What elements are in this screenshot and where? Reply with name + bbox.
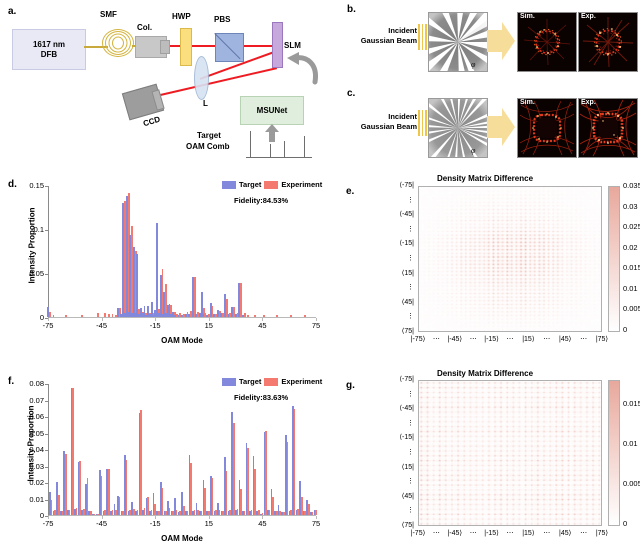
dfb-type: DFB: [41, 50, 57, 60]
bar: [254, 315, 256, 317]
matrix-row-label: ⋮: [374, 312, 414, 320]
x-tick-label: 45: [244, 321, 280, 330]
colorbar-tick-label: 0.035: [623, 181, 640, 190]
incident-line1: Incident: [345, 112, 417, 122]
bar: [65, 315, 67, 317]
phi-symbol-c: φ: [471, 146, 475, 155]
colorbar-tick-label: 0.03: [623, 202, 638, 211]
bar: [140, 410, 142, 515]
panel-b-hologram-row: b. Incident Gaussian Beam φ Sim.: [345, 2, 640, 86]
panel-d-y-title: Intensity Proportion: [28, 186, 37, 306]
bar: [156, 223, 158, 317]
bar: [190, 463, 192, 515]
feedback-arrow-icon: [285, 52, 321, 86]
x-tick-label: 75: [298, 519, 334, 528]
bar: [136, 254, 138, 317]
panel-f-spectrum-chart: f. 00.010.020.030.040.050.060.070.08 -75…: [0, 370, 330, 555]
comb-line: [304, 136, 305, 157]
legend-swatch-experiment: [264, 378, 278, 386]
exp-tag-c: Exp.: [581, 99, 596, 106]
exp-tag-b: Exp.: [581, 13, 596, 20]
matrix-row-label: ⟨-75|: [374, 375, 414, 383]
bar: [101, 476, 103, 515]
x-tick-label: -15: [137, 519, 173, 528]
half-wave-plate: [180, 28, 192, 66]
colorbar-tick-label: 0: [623, 519, 627, 528]
panel-g-matrix-area: [418, 380, 602, 526]
panel-d-legend: Target Experiment: [222, 180, 322, 189]
colorbar-tick-label: 0.015: [623, 263, 640, 272]
matrix-row-label: ⋮: [374, 448, 414, 456]
bar: [97, 313, 99, 317]
label-slm: SLM: [284, 41, 301, 50]
panel-d-spectrum-chart: d. 00.050.10.15 -75-45-15154575 Intensit…: [0, 176, 330, 352]
colorbar-tick-label: 0.005: [623, 304, 640, 313]
x-tick-label: 75: [298, 321, 334, 330]
incident-line2: Gaussian Beam: [345, 122, 417, 132]
bar: [247, 448, 249, 515]
panel-c-hologram-row: c. Incident Gaussian Beam φ Sim.: [345, 86, 640, 172]
bar: [276, 315, 278, 317]
bar: [265, 431, 267, 515]
matrix-row-label: ⟨-45|: [374, 404, 414, 412]
y-tick-mark: [45, 467, 48, 468]
matrix-row-label: ⟨75|: [374, 327, 414, 335]
legend-label-target: Target: [239, 377, 261, 386]
x-tick-mark: [209, 516, 210, 519]
x-tick-label: -45: [84, 519, 120, 528]
panel-f-plot-area: [48, 384, 316, 516]
matrix-col-label: |75⟩: [585, 335, 619, 343]
collimator-nose: [160, 40, 170, 54]
legend-label-target: Target: [239, 180, 261, 189]
y-tick-label: 0.02: [4, 478, 44, 487]
lens: [194, 56, 209, 100]
dfb-laser-source: 1617 nm DFB: [12, 29, 86, 70]
x-tick-mark: [262, 318, 263, 321]
matrix-col-label: |75⟩: [585, 529, 619, 537]
y-tick-mark: [45, 500, 48, 501]
panel-d-plot-area: [48, 186, 316, 318]
bar: [126, 460, 128, 515]
y-tick-mark: [45, 450, 48, 451]
label-col: Col.: [137, 23, 152, 32]
bar: [315, 510, 317, 515]
x-tick-label: 15: [191, 519, 227, 528]
comb-line: [284, 141, 285, 157]
sim-image-b: Sim.: [517, 12, 577, 72]
panel-f-fidelity: Fidelity:83.63%: [234, 393, 288, 402]
incident-beam-label-b: Incident Gaussian Beam: [345, 26, 417, 46]
bar: [287, 442, 289, 515]
x-tick-mark: [48, 516, 49, 519]
panel-d-x-title: OAM Mode: [48, 336, 316, 345]
x-tick-mark: [48, 318, 49, 321]
matrix-heatmap: [419, 381, 602, 526]
bar: [244, 313, 246, 317]
colorbar-tick-label: 0.01: [623, 284, 638, 293]
y-tick-mark: [45, 274, 48, 275]
y-tick-label: 0.05: [4, 269, 44, 278]
bar: [226, 471, 228, 515]
matrix-row-label: ⟨-75|: [374, 181, 414, 189]
matrix-row-label: ⟨-15|: [374, 239, 414, 247]
bar: [104, 313, 106, 317]
comb-line: [270, 144, 271, 157]
bar: [212, 478, 214, 515]
y-tick-mark: [45, 186, 48, 187]
panel-g-colorbar: [608, 380, 620, 526]
label-smf: SMF: [100, 10, 117, 19]
label-target-line1: Target: [197, 131, 221, 140]
matrix-row-label: ⋮: [374, 254, 414, 262]
incident-beam-label-c: Incident Gaussian Beam: [345, 112, 417, 132]
bar: [53, 315, 55, 317]
panel-b-letter: b.: [347, 4, 356, 15]
x-tick-mark: [102, 516, 103, 519]
sim-image-c: Sim.: [517, 98, 577, 158]
label-pbs: PBS: [214, 15, 230, 24]
x-tick-label: 45: [244, 519, 280, 528]
bar: [81, 315, 83, 317]
y-tick-label: 0.04: [4, 445, 44, 454]
spatial-light-modulator: [272, 22, 283, 68]
matrix-row-label: ⟨-15|: [374, 433, 414, 441]
matrix-row-label: ⋮: [374, 477, 414, 485]
panel-f-x-title: OAM Mode: [48, 534, 316, 543]
bar: [290, 315, 292, 317]
legend-label-experiment: Experiment: [281, 180, 322, 189]
panel-e-colorbar: [608, 186, 620, 332]
comb-line: [250, 131, 251, 157]
matrix-heatmap: [419, 187, 602, 332]
x-tick-mark: [316, 318, 317, 321]
fork-hologram-c: [428, 98, 488, 158]
matrix-row-label: ⋮: [374, 419, 414, 427]
matrix-row-label: ⋮: [374, 196, 414, 204]
panel-d-bars: [49, 186, 316, 317]
y-tick-label: 0.01: [4, 495, 44, 504]
matrix-row-label: ⟨45|: [374, 492, 414, 500]
matrix-row-label: ⟨15|: [374, 463, 414, 471]
panel-a-letter: a.: [8, 6, 16, 17]
legend-swatch-experiment: [264, 181, 278, 189]
matrix-row-label: ⟨15|: [374, 269, 414, 277]
msunet-network-box: MSUNet: [240, 96, 304, 125]
matrix-row-label: ⟨45|: [374, 298, 414, 306]
bar: [194, 277, 196, 317]
bar: [294, 409, 296, 515]
gaussian-beam-rays-c: [418, 110, 427, 136]
panel-a-experimental-setup: a. 1617 nm DFB MSUNet SMF Col. HWP PBS S…: [0, 0, 340, 172]
y-tick-mark: [45, 230, 48, 231]
y-tick-label: 0.05: [4, 429, 44, 438]
panel-e-letter: e.: [346, 186, 354, 197]
label-hwp: HWP: [172, 12, 191, 21]
bar: [65, 454, 67, 515]
polarizing-beam-splitter: [215, 33, 244, 62]
phi-symbol-b: φ: [471, 60, 475, 69]
colorbar-tick-label: 0.015: [623, 399, 640, 408]
bar: [108, 314, 110, 317]
label-target-line2: OAM Comb: [186, 142, 230, 151]
exp-image-b: Exp.: [578, 12, 638, 72]
y-tick-label: 0.08: [4, 379, 44, 388]
x-tick-mark: [262, 516, 263, 519]
x-tick-mark: [316, 516, 317, 519]
label-ccd: CCD: [142, 115, 161, 129]
panel-c-letter: c.: [347, 88, 355, 99]
panel-e-density-matrix: e. Density Matrix Difference ⟨-75|⋮⟨-45|…: [330, 176, 640, 352]
bar: [247, 315, 249, 317]
exp-image-c: Exp.: [578, 98, 638, 158]
x-tick-mark: [155, 318, 156, 321]
y-tick-label: 0.1: [4, 225, 44, 234]
smf-fiber-coil-icon: [101, 26, 135, 60]
x-tick-label: -45: [84, 321, 120, 330]
legend-swatch-target: [222, 378, 236, 386]
bar: [254, 469, 256, 515]
panel-f-bars: [49, 384, 316, 515]
bar: [240, 283, 242, 317]
panel-e-matrix-area: [418, 186, 602, 332]
y-tick-label: 0.03: [4, 462, 44, 471]
sim-tag-c: Sim.: [520, 99, 535, 106]
matrix-row-label: ⟨-45|: [374, 210, 414, 218]
panel-f-legend: Target Experiment: [222, 377, 322, 386]
y-tick-mark: [45, 417, 48, 418]
dfb-wavelength: 1617 nm: [33, 40, 65, 50]
label-lens: L: [203, 99, 208, 108]
sim-tag-b: Sim.: [520, 13, 535, 20]
bar: [79, 461, 81, 515]
matrix-row-label: ⋮: [374, 283, 414, 291]
y-tick-mark: [45, 434, 48, 435]
colorbar-tick-label: 0.005: [623, 479, 640, 488]
bar: [87, 478, 89, 515]
gaussian-beam-rays-b: [418, 24, 427, 50]
colorbar-tick-label: 0.01: [623, 439, 638, 448]
colorbar-tick-label: 0: [623, 325, 627, 334]
x-tick-label: -75: [30, 519, 66, 528]
x-tick-label: -75: [30, 321, 66, 330]
bar: [72, 388, 74, 515]
matrix-row-label: ⋮: [374, 390, 414, 398]
panel-g-density-matrix: g. Density Matrix Difference ⟨-75|⋮⟨-45|…: [330, 370, 640, 555]
panel-g-letter: g.: [346, 380, 355, 391]
matrix-row-label: ⟨75|: [374, 521, 414, 529]
x-tick-label: 15: [191, 321, 227, 330]
x-tick-label: -15: [137, 321, 173, 330]
legend-swatch-target: [222, 181, 236, 189]
x-tick-mark: [209, 318, 210, 321]
y-tick-label: 0.07: [4, 396, 44, 405]
legend-label-experiment: Experiment: [281, 377, 322, 386]
bar: [263, 315, 265, 317]
bar: [112, 314, 114, 317]
x-tick-mark: [102, 318, 103, 321]
colorbar-tick-label: 0.02: [623, 243, 638, 252]
comb-baseline: [246, 157, 312, 158]
y-tick-label: 0.06: [4, 412, 44, 421]
bar: [49, 312, 51, 317]
panel-d-fidelity: Fidelity:84.53%: [234, 196, 288, 205]
incident-line2: Gaussian Beam: [345, 36, 417, 46]
yellow-arrow-c-icon: [487, 108, 515, 146]
matrix-row-label: ⋮: [374, 225, 414, 233]
target-oam-comb-plot: [246, 128, 312, 158]
bar: [108, 469, 110, 515]
fork-hologram-b: [428, 12, 488, 72]
colorbar-tick-label: 0.025: [623, 222, 640, 231]
incident-line1: Incident: [345, 26, 417, 36]
y-tick-mark: [45, 401, 48, 402]
x-tick-mark: [155, 516, 156, 519]
matrix-row-label: ⋮: [374, 506, 414, 514]
y-tick-mark: [45, 483, 48, 484]
panel-f-y-title: Intensity Proportion: [27, 384, 36, 504]
yellow-arrow-b-icon: [487, 22, 515, 60]
y-tick-mark: [45, 384, 48, 385]
y-tick-label: 0.15: [4, 181, 44, 190]
bar: [233, 423, 235, 515]
msunet-label: MSUNet: [257, 106, 288, 115]
bar: [304, 315, 306, 317]
